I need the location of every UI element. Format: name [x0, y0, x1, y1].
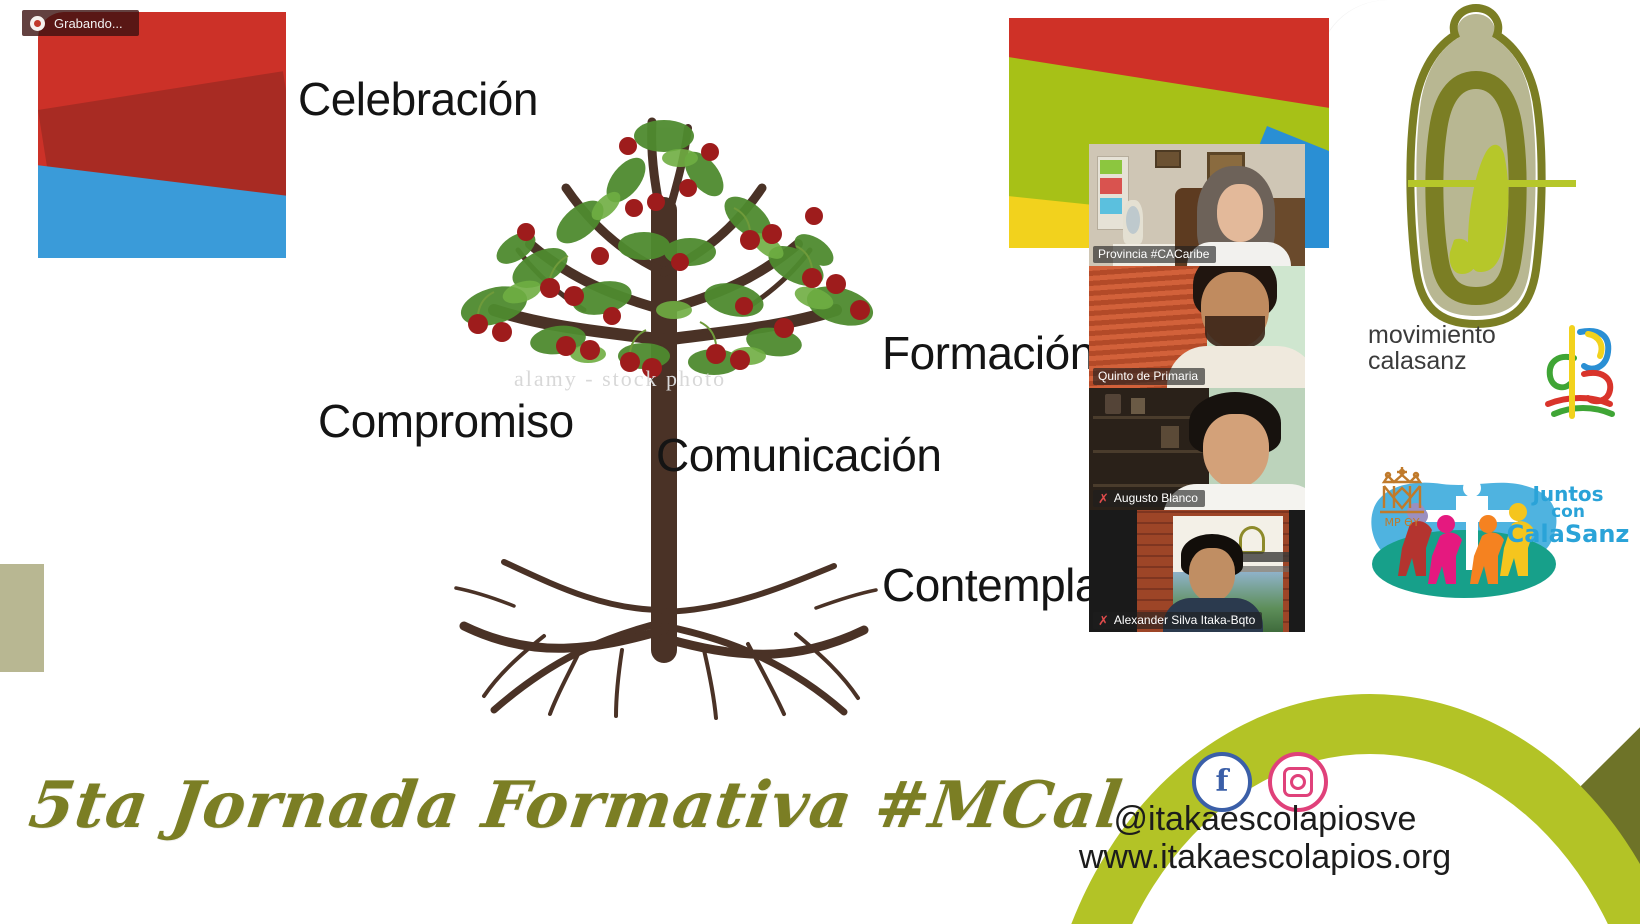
wall-picture [1155, 150, 1181, 168]
participant-name: Provincia #CACaribe [1098, 247, 1209, 261]
recording-indicator[interactable]: Grabando... [22, 10, 139, 36]
participant-name-tag: Quinto de Primaria [1093, 368, 1205, 385]
juntos-con-calasanz-wordmark: Juntos con CalaSanz [1498, 484, 1638, 546]
tree-label-formacion: Formación [882, 326, 1095, 380]
contact-info: @itakaescolapiosve www.itakaescolapios.o… [1050, 800, 1480, 876]
participant-name-tag: Provincia #CACaribe [1093, 246, 1216, 263]
person-face [1217, 184, 1263, 242]
presentation-slide: alamy - stock photo Celebración Formació… [0, 0, 1640, 924]
participant-name-tag: ✗ Augusto Blanco [1093, 490, 1205, 507]
participant-name: Augusto Blanco [1114, 491, 1198, 505]
participant-tile[interactable]: Quinto de Primaria [1089, 266, 1305, 388]
juntos-line-3: CalaSanz [1498, 522, 1638, 546]
recording-label: Grabando... [54, 16, 123, 31]
participant-name: Quinto de Primaria [1098, 369, 1198, 383]
vase [1123, 200, 1143, 244]
participant-tile[interactable]: ✗ Augusto Blanco [1089, 388, 1305, 510]
shelf-object [1105, 394, 1121, 414]
page-title: 5ta Jornada Formativa #MCal [25, 768, 1127, 843]
tree-label-compromiso: Compromiso [318, 394, 574, 448]
mp-crest-icon: MP ƟY [1370, 464, 1434, 534]
record-dot-icon [30, 16, 45, 31]
juntos-line-1: Juntos [1498, 484, 1638, 504]
person-face [1203, 414, 1269, 488]
person-face [1189, 548, 1235, 602]
shelf-line [1093, 416, 1205, 419]
shelf-object [1131, 398, 1145, 414]
person-beard [1205, 316, 1265, 350]
board-note [1100, 178, 1122, 194]
board-note [1100, 198, 1122, 214]
crest-motto: MP ƟY [1385, 516, 1420, 529]
movimiento-calasanz-figure-icon [1376, 4, 1576, 334]
tree-label-comunicacion: Comunicación [656, 428, 941, 482]
participant-tile[interactable]: ✗ Alexander Silva Itaka-Bqto [1089, 510, 1305, 632]
instagram-camera-glyph [1283, 767, 1313, 797]
social-handle[interactable]: @itakaescolapiosve [1050, 800, 1480, 838]
shelf-line [1093, 450, 1205, 453]
participant-filmstrip[interactable]: Provincia #CACaribe Quinto de Primaria [1089, 144, 1305, 632]
muted-microphone-icon: ✗ [1098, 614, 1109, 627]
board-note [1100, 160, 1122, 174]
participant-name-tag: ✗ Alexander Silva Itaka-Bqto [1093, 612, 1262, 629]
calasanz-ribbon-icon [1514, 318, 1624, 428]
itaka-logo-icon [1239, 526, 1265, 554]
shelf-object [1161, 426, 1179, 448]
brand-logo-column: movimiento calasanz [1318, 0, 1640, 790]
participant-tile[interactable]: Provincia #CACaribe [1089, 144, 1305, 266]
stock-photo-watermark: alamy - stock photo [514, 366, 726, 392]
website-url[interactable]: www.itakaescolapios.org [1050, 838, 1480, 876]
tree-label-celebracion: Celebración [298, 72, 538, 126]
recording-video-tile [38, 12, 286, 258]
participant-name: Alexander Silva Itaka-Bqto [1114, 613, 1255, 627]
tree-label-contemplacion: Contempla [882, 558, 1100, 612]
facebook-glyph: f [1216, 767, 1229, 797]
muted-microphone-icon: ✗ [1098, 492, 1109, 505]
